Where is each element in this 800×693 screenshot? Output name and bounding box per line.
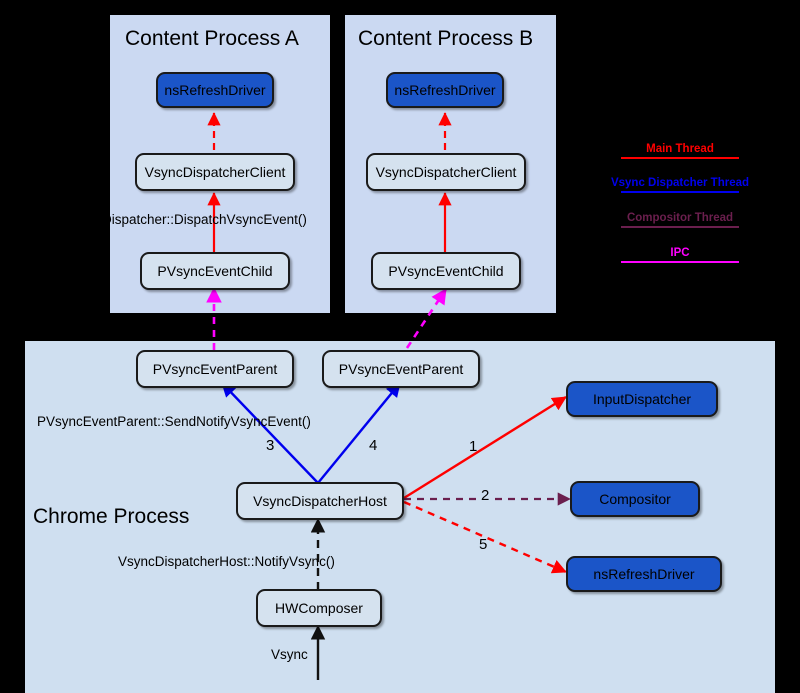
legend-label-ipc: IPC: [670, 247, 689, 259]
node-content-a-pvsynceventchild[interactable]: PVsyncEventChild: [140, 252, 290, 290]
node-chrome-pvsynceventparent-a[interactable]: PVsyncEventParent: [136, 350, 294, 388]
node-content-a-vsyncdispatcherclient[interactable]: VsyncDispatcherClient: [135, 153, 295, 191]
step-number-refresh-driver: 5: [479, 536, 487, 553]
legend-label-main-thread: Main Thread: [646, 143, 714, 155]
edge-label-dispatch-vsync-event-text: Dispatcher::DispatchVsyncEvent(): [110, 212, 307, 227]
legend-item-ipc: IPC: [595, 247, 765, 263]
node-content-b-vsyncdispatcherclient[interactable]: VsyncDispatcherClient: [366, 153, 526, 191]
legend-label-compositor-thread: Compositor Thread: [627, 212, 733, 224]
edge-label-dispatch-vsync-event: Dispatcher::DispatchVsyncEvent(): [110, 212, 322, 227]
legend-rule-compositor-thread: [621, 226, 739, 228]
legend-rule-vsync-dispatcher-thread: [621, 191, 739, 193]
node-chrome-hwcomposer[interactable]: HWComposer: [256, 589, 382, 627]
legend-item-vsync-dispatcher-thread: Vsync Dispatcher Thread: [595, 177, 765, 193]
node-chrome-vsyncdispatcherhost[interactable]: VsyncDispatcherHost: [236, 482, 404, 520]
edge-label-notify-vsync: VsyncDispatcherHost::NotifyVsync(): [118, 554, 335, 569]
legend-label-vsync-dispatcher-thread: Vsync Dispatcher Thread: [611, 177, 749, 189]
node-chrome-nsrefreshdriver[interactable]: nsRefreshDriver: [566, 556, 722, 592]
edge-label-vsync-source: Vsync: [271, 647, 308, 662]
legend-rule-main-thread: [621, 157, 739, 159]
legend-rule-ipc: [621, 261, 739, 263]
process-title-content-a: Content Process A: [125, 27, 299, 51]
node-chrome-compositor[interactable]: Compositor: [570, 481, 700, 517]
node-chrome-pvsynceventparent-b[interactable]: PVsyncEventParent: [322, 350, 480, 388]
edge-label-send-notify-vsync-event: PVsyncEventParent::SendNotifyVsyncEvent(…: [37, 414, 311, 429]
node-content-a-nsrefreshdriver[interactable]: nsRefreshDriver: [156, 72, 274, 108]
step-number-parent-a: 3: [266, 437, 274, 454]
legend-item-main-thread: Main Thread: [595, 143, 765, 159]
step-number-input-dispatcher: 1: [469, 438, 477, 455]
diagram-canvas: Content Process A Content Process B Chro…: [0, 0, 800, 693]
process-title-content-b: Content Process B: [358, 27, 533, 51]
step-number-parent-b: 4: [369, 437, 377, 454]
legend-item-compositor-thread: Compositor Thread: [595, 212, 765, 228]
node-content-b-nsrefreshdriver[interactable]: nsRefreshDriver: [386, 72, 504, 108]
process-title-chrome: Chrome Process: [33, 505, 189, 529]
step-number-compositor: 2: [478, 487, 492, 504]
node-chrome-inputdispatcher[interactable]: InputDispatcher: [566, 381, 718, 417]
node-content-b-pvsynceventchild[interactable]: PVsyncEventChild: [371, 252, 521, 290]
